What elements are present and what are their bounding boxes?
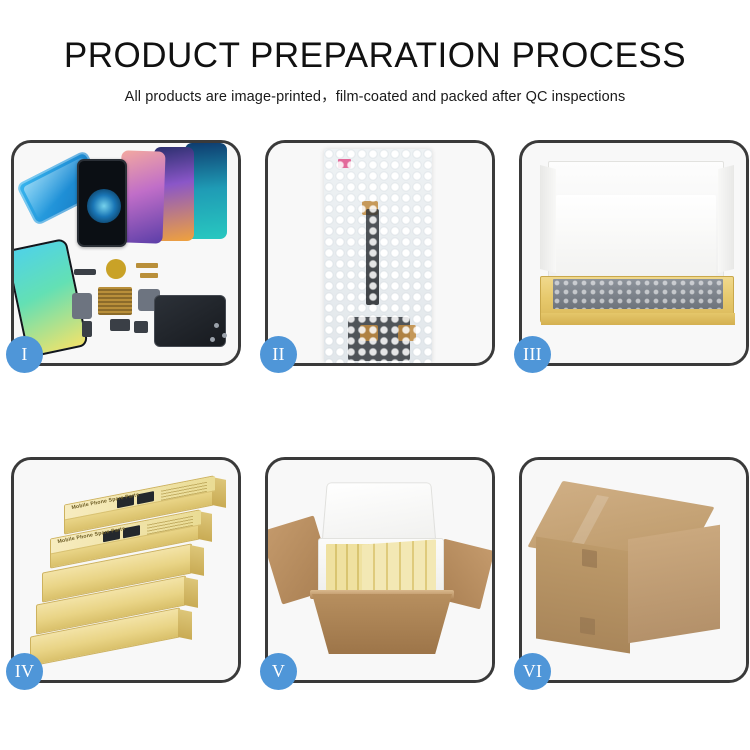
step-badge-2: II [260,336,297,373]
box-text-lines [161,481,207,501]
step-image-3 [522,143,746,363]
step-image-1 [14,143,238,363]
part-gold-coil [106,259,126,279]
connector-bottom-right [398,325,416,341]
step-badge-1: I [6,336,43,373]
step-panel-1: I [11,140,241,366]
box-text-lines [147,515,193,535]
part-screw-1 [214,323,219,328]
step-badge-4: IV [6,653,43,690]
part-flex-cable-left [72,293,92,319]
foam-sheet [556,195,716,279]
retail-box-stack: Mobile Phone Spare Parts Mobile Phone Sp… [20,482,235,672]
step-badge-3: III [514,336,551,373]
part-cable-1 [136,263,158,268]
part-bracket [74,269,96,275]
connector-bottom-left [360,325,378,341]
box-front-lip [541,313,735,325]
process-step-grid: I II [11,140,739,683]
product-preparation-page: PRODUCT PREPARATION PROCESS All products… [0,0,750,750]
carton-tape-upper [582,549,597,568]
part-sim-tray [82,321,92,337]
part-contact-pad [98,287,132,315]
step-badge-6: VI [514,653,551,690]
part-camera-module [110,319,130,331]
box-lid-flap-left [540,165,556,273]
page-subtitle: All products are image-printed，film-coat… [0,85,750,106]
phone-black-front [77,159,127,247]
carton-tape-lower [580,617,595,635]
yellow-box-tray [540,276,734,324]
step-panel-6: VI [519,457,749,683]
page-title: PRODUCT PREPARATION PROCESS [0,36,750,75]
bubble-wrap-filling [553,279,723,309]
step-panel-3: III [519,140,749,366]
step-image-6 [522,460,746,680]
part-screw-2 [222,333,227,338]
step-image-4: Mobile Phone Spare Parts Mobile Phone Sp… [14,460,238,680]
bubble-wrap-bag [324,149,432,363]
part-cable-2 [140,273,158,278]
step-image-5 [268,460,492,680]
step-panel-2: II [265,140,495,366]
pink-label-tab [338,159,351,168]
part-screw-3 [210,337,215,342]
part-speaker [134,321,148,333]
carton-side-face [628,525,720,644]
header: PRODUCT PREPARATION PROCESS All products… [0,0,750,106]
flex-cable-strip [366,209,379,305]
box-side [184,577,198,608]
box-side [178,609,192,640]
box-side [190,545,204,576]
step-badge-5: V [260,653,297,690]
step-image-2 [268,143,492,363]
part-back-housing [154,295,226,347]
box-lid-flap-right [718,165,734,273]
carton-body [312,594,452,654]
step-panel-4: Mobile Phone Spare Parts Mobile Phone Sp… [11,457,241,683]
step-panel-5: V [265,457,495,683]
packed-yellow-boxes [362,539,436,596]
